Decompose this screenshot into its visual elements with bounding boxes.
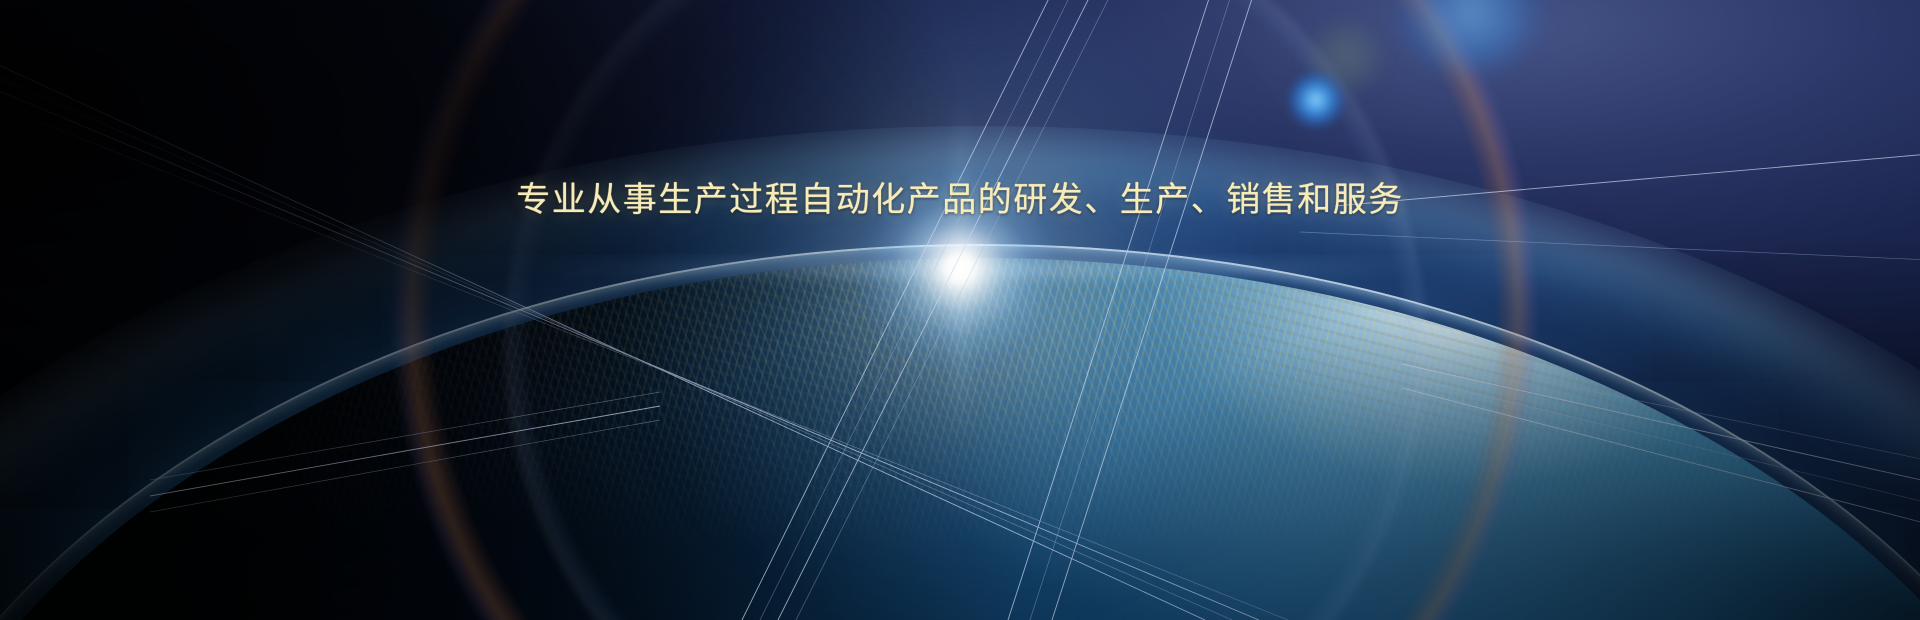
banner-headline: 专业从事生产过程自动化产品的研发、生产、销售和服务 — [516, 178, 1404, 222]
earth-globe — [0, 258, 1920, 620]
hero-banner: 专业从事生产过程自动化产品的研发、生产、销售和服务 — [0, 0, 1920, 620]
bokeh-orb-topright-icon — [1395, 0, 1545, 72]
bokeh-orb-green-icon — [1306, 22, 1384, 94]
bokeh-orb-blue-icon — [1288, 72, 1344, 128]
headline-container: 专业从事生产过程自动化产品的研发、生产、销售和服务 — [0, 178, 1920, 222]
earth-night-shadow — [0, 258, 1920, 620]
